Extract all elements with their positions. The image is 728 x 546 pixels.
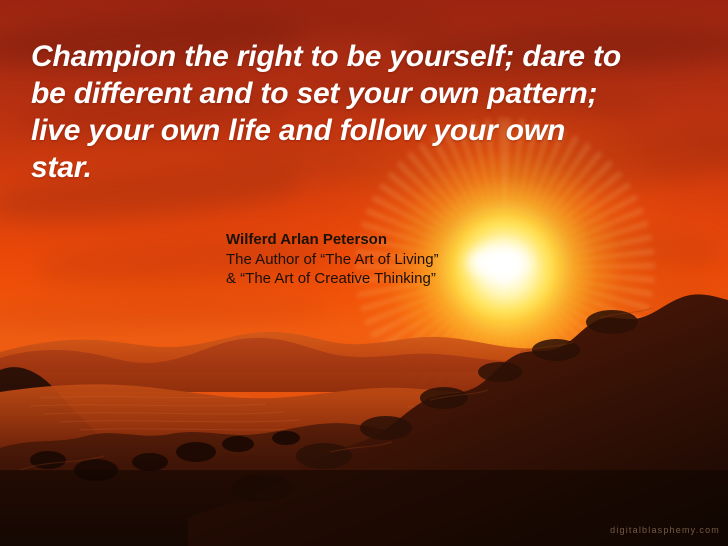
quote-line: live your own life and follow your own xyxy=(31,112,691,149)
quote-text: Champion the right to be yourself; dare … xyxy=(31,38,691,186)
attribution-block: Wilferd Arlan Peterson The Author of “Th… xyxy=(226,230,439,289)
quote-line: star. xyxy=(31,149,691,186)
author-works-line-1: The Author of “The Art of Living” xyxy=(226,250,439,270)
quote-line: Champion the right to be yourself; dare … xyxy=(31,38,691,75)
quote-line: be different and to set your own pattern… xyxy=(31,75,691,112)
sky-lower-haze xyxy=(0,328,728,546)
author-works-line-2: & “The Art of Creative Thinking” xyxy=(226,269,439,289)
quote-slide: Champion the right to be yourself; dare … xyxy=(0,0,728,546)
watermark: digitalblasphemy.com xyxy=(610,525,720,535)
author-name: Wilferd Arlan Peterson xyxy=(226,230,439,250)
